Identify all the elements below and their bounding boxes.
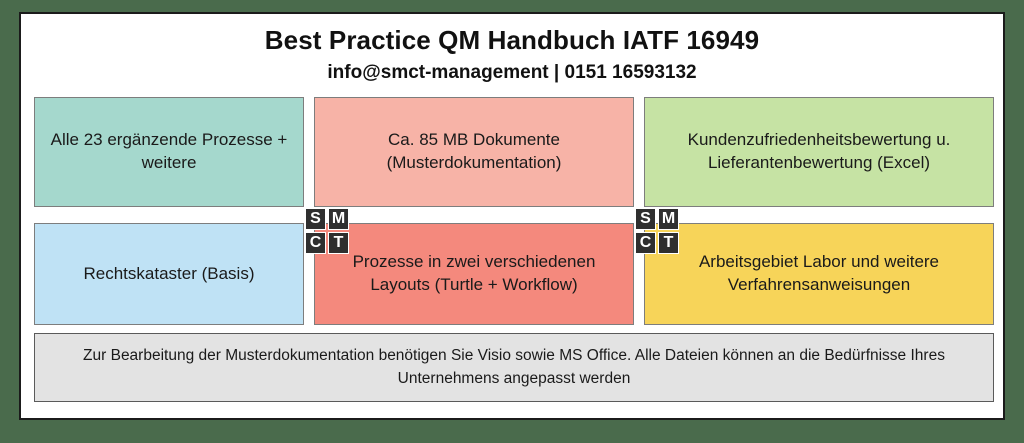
feature-grid: Alle 23 ergänzende Prozesse + weitere Ca… xyxy=(34,97,994,325)
footer-note: Zur Bearbeitung der Musterdokumentation … xyxy=(34,333,994,402)
smct-logo-tile-m: M xyxy=(328,208,349,230)
smct-logo-tile-s: S xyxy=(635,208,656,230)
feature-box-label: Kundenzufriedenheitsbewertung u. Liefera… xyxy=(659,129,979,175)
feature-box-label: Rechtskataster (Basis) xyxy=(84,263,255,286)
feature-box-evaluations: Kundenzufriedenheitsbewertung u. Liefera… xyxy=(644,97,994,207)
contact-subtitle: info@smct-management | 0151 16593132 xyxy=(21,62,1003,85)
footer-note-text: Zur Bearbeitung der Musterdokumentation … xyxy=(51,345,977,390)
feature-box-label: Alle 23 ergänzende Prozesse + weitere xyxy=(49,129,289,175)
smct-logo-tile-s: S xyxy=(305,208,326,230)
feature-box-legal-register: Rechtskataster (Basis) xyxy=(34,223,304,325)
smct-logo-icon: S M C T xyxy=(635,208,679,254)
feature-box-lab-procedures: Arbeitsgebiet Labor und weitere Verfahre… xyxy=(644,223,994,325)
smct-logo-tile-t: T xyxy=(328,232,349,254)
feature-box-documents: Ca. 85 MB Dokumente (Musterdokumentation… xyxy=(314,97,634,207)
smct-logo-tile-c: C xyxy=(635,232,656,254)
smct-logo-icon: S M C T xyxy=(305,208,349,254)
header: Best Practice QM Handbuch IATF 16949 inf… xyxy=(21,14,1003,85)
feature-box-label: Ca. 85 MB Dokumente (Musterdokumentation… xyxy=(329,129,619,175)
smct-logo-tile-t: T xyxy=(658,232,679,254)
smct-logo-tile-c: C xyxy=(305,232,326,254)
page-title: Best Practice QM Handbuch IATF 16949 xyxy=(21,26,1003,56)
smct-logo-tile-m: M xyxy=(658,208,679,230)
feature-box-processes: Alle 23 ergänzende Prozesse + weitere xyxy=(34,97,304,207)
feature-box-layouts: Prozesse in zwei verschiedenen Layouts (… xyxy=(314,223,634,325)
feature-box-label: Arbeitsgebiet Labor und weitere Verfahre… xyxy=(659,251,979,297)
feature-box-label: Prozesse in zwei verschiedenen Layouts (… xyxy=(329,251,619,297)
infographic-card: Best Practice QM Handbuch IATF 16949 inf… xyxy=(19,12,1005,420)
